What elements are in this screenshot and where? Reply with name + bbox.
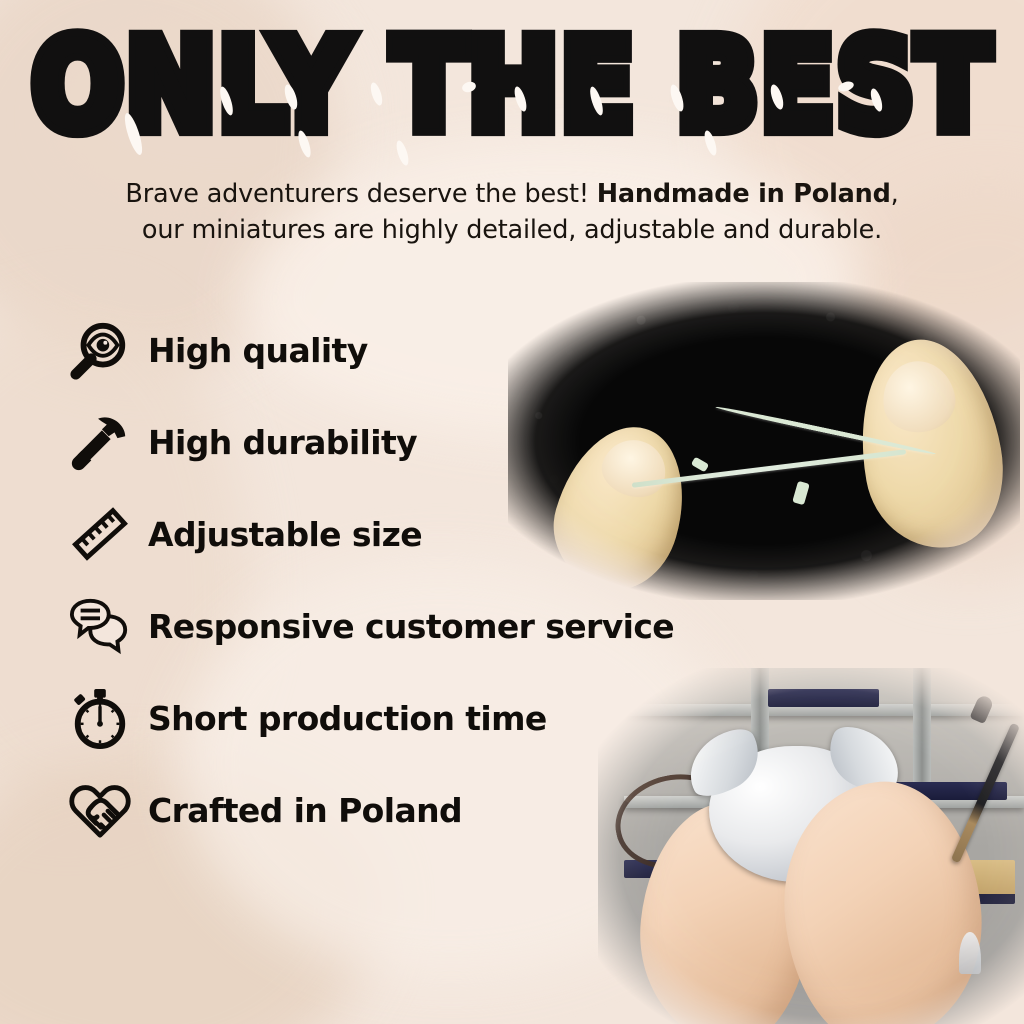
subtitle-highlight: Handmade in Poland — [597, 179, 891, 209]
ruler-icon — [58, 497, 142, 571]
fingernail — [596, 433, 673, 505]
fingernail — [878, 356, 961, 439]
feature-label: Short production time — [148, 699, 547, 738]
page-title: ONLY THE BEST — [32, 25, 993, 148]
miniature-tray — [768, 689, 879, 707]
feature-label: High durability — [148, 423, 417, 462]
photo-content — [598, 668, 1024, 1024]
subtitle-line1-tail: , — [891, 179, 899, 209]
headline-container: ONLY THE BEST — [0, 34, 1024, 138]
subtitle-line1-lead: Brave adventurers deserve the best! — [125, 179, 596, 209]
feature-label: Responsive customer service — [148, 607, 674, 646]
speech-bubbles-icon — [58, 589, 142, 663]
stopwatch-icon — [58, 681, 142, 755]
poster-canvas: ONLY THE BEST Brave adventurers deserve … — [0, 0, 1024, 1024]
workshop-painting-photo — [598, 668, 1024, 1024]
hammer-icon — [58, 405, 142, 479]
feature-label: High quality — [148, 331, 368, 370]
feature-label: Adjustable size — [148, 515, 422, 554]
handshake-heart-icon — [58, 773, 142, 847]
magnifier-eye-icon — [58, 313, 142, 387]
photo-content — [508, 282, 1020, 600]
flexible-miniature-photo — [508, 282, 1020, 600]
feature-label: Crafted in Poland — [148, 791, 462, 830]
subtitle-line2: our miniatures are highly detailed, adju… — [142, 215, 882, 245]
subtitle: Brave adventurers deserve the best! Hand… — [90, 176, 934, 248]
